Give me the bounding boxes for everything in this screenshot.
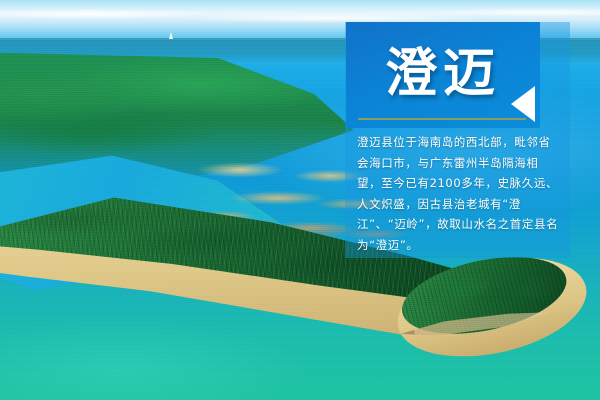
screenshot-root: 澄迈 澄迈县位于海南岛的西北部，毗邻省会海口市，与广东雷州半岛隔海相望，至今已有… bbox=[0, 0, 600, 400]
peninsula-head bbox=[392, 252, 592, 362]
left-triangle-pointer-icon bbox=[511, 86, 535, 122]
description-paragraph: 澄迈县位于海南岛的西北部，毗邻省会海口市，与广东雷州半岛隔海相望，至今已有210… bbox=[357, 132, 559, 255]
info-panel: 澄迈 澄迈县位于海南岛的西北部，毗邻省会海口市，与广东雷州半岛隔海相望，至今已有… bbox=[345, 22, 570, 258]
title-divider bbox=[358, 118, 526, 120]
